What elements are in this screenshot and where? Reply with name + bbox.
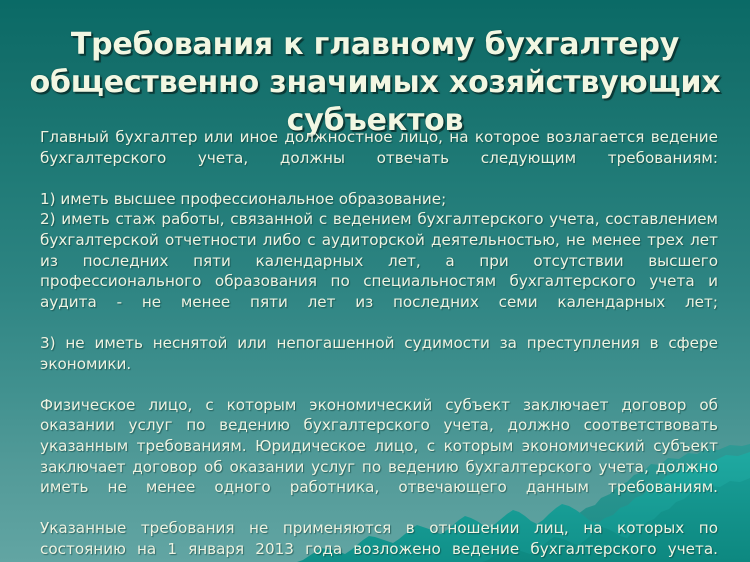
slide-title: Требования к главному бухгалтеру обществ… [28, 26, 722, 140]
paragraph-transition-clause: Указанные требования не применяются в от… [40, 518, 718, 562]
paragraph-individual-contractor: Физическое лицо, с которым экономический… [40, 395, 718, 519]
paragraph-requirement-3: 3) не иметь неснятой или непогашенной су… [40, 333, 718, 395]
slide-body: Главный бухгалтер или иное должностное л… [40, 127, 718, 562]
paragraph-requirement-2: 2) иметь стаж работы, связанной с ведени… [40, 209, 718, 333]
paragraph-requirement-1: 1) иметь высшее профессиональное образов… [40, 189, 718, 210]
presentation-slide: Требования к главному бухгалтеру обществ… [0, 0, 750, 562]
paragraph-intro: Главный бухгалтер или иное должностное л… [40, 127, 718, 189]
